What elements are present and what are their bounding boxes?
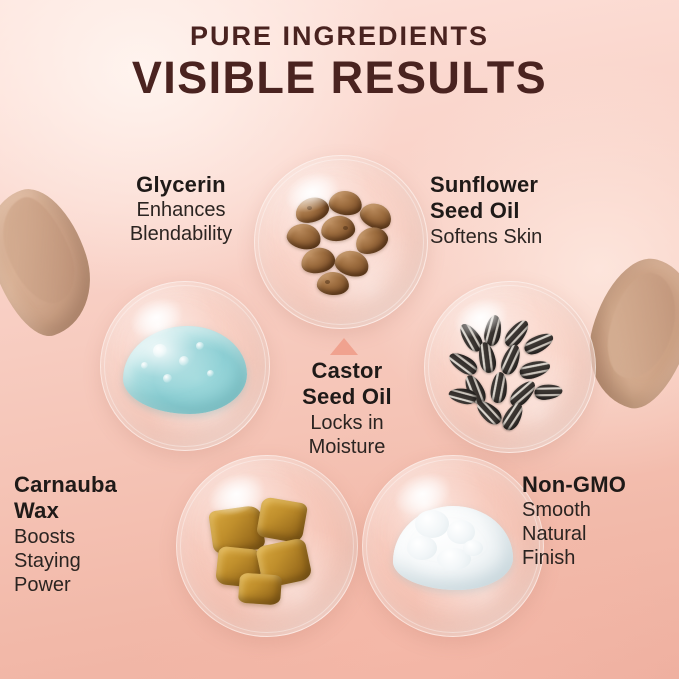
non-gmo-benefit-line-1: Smooth: [522, 498, 672, 522]
ingredient-bubble-castor-seed-oil: [254, 155, 428, 329]
ingredient-bubble-glycerin: [100, 281, 270, 451]
ingredient-bubble-sunflower-seed-oil: [424, 281, 596, 453]
gel-blob-icon: [101, 282, 269, 450]
glycerin-benefit-line-1: Enhances: [86, 198, 276, 222]
headline-line-1: PURE INGREDIENTS: [0, 22, 679, 50]
carnauba-benefit-line-1: Boosts: [14, 525, 184, 549]
non-gmo-benefit-line-2: Natural: [522, 522, 672, 546]
sunflower-name-line-1: Sunflower: [430, 172, 640, 198]
glycerin-name: Glycerin: [86, 172, 276, 198]
castor-seeds-icon: [255, 156, 427, 328]
poster-header: PURE INGREDIENTS VISIBLE RESULTS: [0, 0, 679, 103]
headline-line-2: VISIBLE RESULTS: [0, 54, 679, 103]
powder-mound-icon: [363, 456, 543, 636]
sunflower-seeds-icon: [425, 282, 595, 452]
sunflower-name-line-2: Seed Oil: [430, 198, 640, 224]
carnauba-benefit-line-2: Staying: [14, 549, 184, 573]
castor-benefit-line-1: Locks in: [272, 411, 422, 435]
carnauba-name-line-1: Carnauba: [14, 472, 184, 498]
carnauba-name-line-2: Wax: [14, 498, 184, 524]
label-non-gmo: Non-GMO Smooth Natural Finish: [522, 472, 672, 570]
castor-benefit-line-2: Moisture: [272, 435, 422, 459]
label-glycerin: Glycerin Enhances Blendability: [86, 172, 276, 246]
sunflower-benefit-line-1: Softens Skin: [430, 225, 640, 249]
ingredient-bubble-carnauba-wax: [176, 455, 358, 637]
makeup-swatch-left-highlight-icon: [0, 189, 86, 313]
castor-name-line-1: Castor: [272, 358, 422, 384]
label-castor-seed-oil: Castor Seed Oil Locks in Moisture: [272, 358, 422, 459]
makeup-swatch-right-highlight-icon: [600, 267, 679, 386]
carnauba-benefit-line-3: Power: [14, 573, 184, 597]
label-carnauba-wax: Carnauba Wax Boosts Staying Power: [14, 472, 184, 597]
non-gmo-name: Non-GMO: [522, 472, 672, 498]
castor-arrow-icon: [330, 338, 358, 355]
glycerin-benefit-line-2: Blendability: [86, 222, 276, 246]
label-sunflower-seed-oil: Sunflower Seed Oil Softens Skin: [430, 172, 640, 249]
non-gmo-benefit-line-3: Finish: [522, 546, 672, 570]
ingredient-infographic: PURE INGREDIENTS VISIBLE RESULTS: [0, 0, 679, 679]
wax-chunks-icon: [177, 456, 357, 636]
ingredient-bubble-non-gmo: [362, 455, 544, 637]
castor-name-line-2: Seed Oil: [272, 384, 422, 410]
